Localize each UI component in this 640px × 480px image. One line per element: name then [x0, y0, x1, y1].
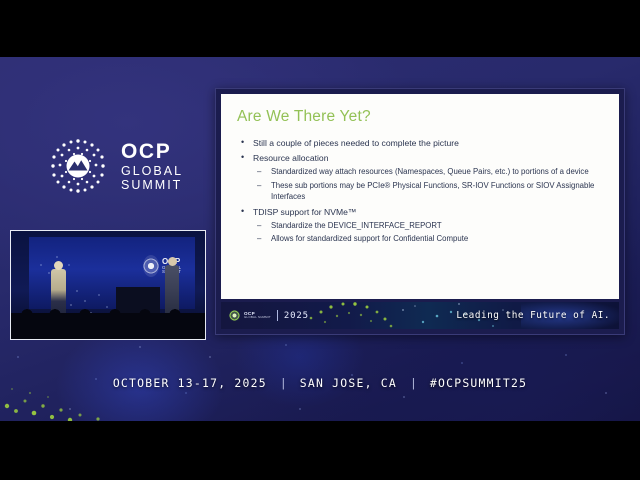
- bullet-item: Resource allocation Standardized way att…: [235, 152, 605, 202]
- slide-title: Are We There Yet?: [237, 108, 605, 126]
- ocp-logo-wordmark: OCP GLOBAL SUMMIT: [121, 141, 183, 192]
- sub-bullet-list: Standardize the DEVICE_INTERFACE_REPORT …: [253, 220, 605, 245]
- sub-bullet-item: Standardize the DEVICE_INTERFACE_REPORT: [253, 220, 605, 231]
- bullet-text: Resource allocation: [253, 153, 328, 163]
- ocp-global-summit-logo: OCP GLOBAL SUMMIT: [46, 133, 196, 199]
- event-banner: OCTOBER 13-17, 2025 | SAN JOSE, CA | #OC…: [0, 362, 640, 404]
- slide-footer-bar: OCP GLOBAL SUMMIT 2025 Leading the Futur…: [221, 302, 619, 329]
- banner-separator: |: [410, 376, 417, 390]
- banner-dates: OCTOBER 13-17, 2025: [113, 376, 267, 390]
- stage-ocp-starburst-icon: [143, 255, 159, 277]
- bullet-item: Still a couple of pieces needed to compl…: [235, 137, 605, 149]
- slide-bullet-list: Still a couple of pieces needed to compl…: [235, 137, 605, 244]
- footer-ocp-subtitle: GLOBAL SUMMIT: [244, 316, 271, 319]
- ocp-starburst-icon: [46, 134, 110, 198]
- letterbox-bottom: [0, 421, 640, 480]
- logo-line-summit: SUMMIT: [121, 179, 183, 192]
- bullet-item: TDISP support for NVMe™ Standardize the …: [235, 206, 605, 245]
- sub-bullet-item: Standardized way attach resources (Names…: [253, 166, 605, 177]
- slide-footer-brand: OCP GLOBAL SUMMIT 2025: [229, 302, 309, 329]
- logo-line-global: GLOBAL: [121, 165, 183, 178]
- banner-separator: |: [280, 376, 287, 390]
- footer-ocp-starburst-icon: [229, 310, 240, 321]
- bullet-text: TDISP support for NVMe™: [253, 207, 356, 217]
- banner-location: SAN JOSE, CA: [300, 376, 397, 390]
- slide-content: Are We There Yet? Still a couple of piec…: [221, 94, 619, 299]
- banner-hashtag: #OCPSUMMIT25: [430, 376, 527, 390]
- footer-divider: [277, 310, 278, 321]
- sub-bullet-item: These sub portions may be PCIe® Physical…: [253, 180, 605, 203]
- letterbox-top: [0, 0, 640, 57]
- speaker-video-thumbnail[interactable]: OCP GLOBAL SUMMIT: [10, 230, 206, 340]
- logo-line-ocp: OCP: [121, 141, 183, 162]
- audience-silhouettes: [11, 313, 205, 339]
- presentation-slide: Are We There Yet? Still a couple of piec…: [215, 88, 625, 335]
- video-player-frame: OCP GLOBAL SUMMIT OCP GLOBAL SUMMIT Are …: [0, 0, 640, 480]
- footer-year: 2025: [284, 311, 309, 321]
- footer-tagline: Leading the Future of AI.: [456, 302, 610, 329]
- bullet-text: Still a couple of pieces needed to compl…: [253, 138, 459, 148]
- sub-bullet-list: Standardized way attach resources (Names…: [253, 166, 605, 202]
- sub-bullet-item: Allows for standardized support for Conf…: [253, 233, 605, 244]
